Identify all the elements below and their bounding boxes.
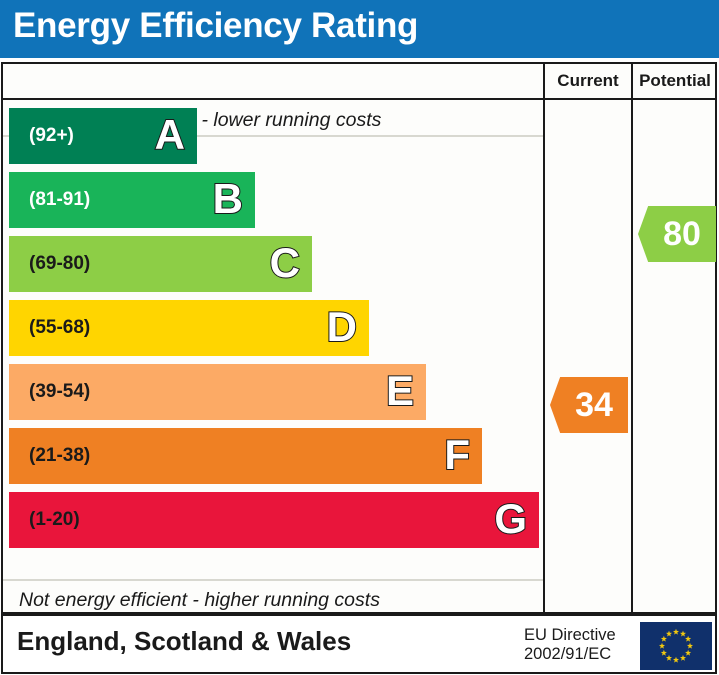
rating-table: Current Potential Very energy efficient …: [1, 62, 717, 614]
band-range-label: (39-54): [29, 364, 90, 420]
column-header-potential: Potential: [633, 64, 717, 98]
footer-directive-label: EU Directive 2002/91/EC: [524, 626, 616, 664]
column-separator-right: [631, 64, 633, 612]
band-range-label: (1-20): [29, 492, 80, 548]
band-letter-label: D: [327, 300, 357, 356]
band-range-label: (81-91): [29, 172, 90, 228]
band-letter-label: C: [270, 236, 300, 292]
table-header-row: Current Potential: [3, 64, 715, 100]
eu-flag-icon: [640, 622, 712, 670]
footer-region-label: England, Scotland & Wales: [17, 626, 351, 657]
band-letter-label: E: [386, 364, 414, 420]
energy-efficiency-rating-chart: Energy Efficiency Rating Current Potenti…: [0, 0, 719, 675]
band-letter-label: G: [494, 492, 527, 548]
band-bar: (81-91)B: [9, 172, 255, 228]
directive-line-1: EU Directive: [524, 626, 616, 645]
page-title: Energy Efficiency Rating: [13, 6, 418, 46]
band-bar: (55-68)D: [9, 300, 369, 356]
band-range-label: (21-38): [29, 428, 90, 484]
current-rating-arrow: 34: [550, 377, 628, 433]
band-range-label: (92+): [29, 108, 74, 164]
band-bar: (39-54)E: [9, 364, 426, 420]
band-bar-list: (92+)A(81-91)B(69-80)C(55-68)D(39-54)E(2…: [3, 100, 543, 612]
potential-rating-arrow: 80: [638, 206, 716, 262]
directive-line-2: 2002/91/EC: [524, 645, 616, 664]
caption-not-efficient: Not energy efficient - higher running co…: [19, 589, 380, 612]
band-bar: (92+)A: [9, 108, 197, 164]
eu-flag-stars-icon: [640, 622, 712, 670]
footer-bar: England, Scotland & Wales EU Directive 2…: [1, 614, 717, 674]
title-bar: Energy Efficiency Rating: [0, 0, 719, 58]
band-letter-label: F: [444, 428, 470, 484]
band-bar: (69-80)C: [9, 236, 312, 292]
column-separator-left: [543, 64, 545, 612]
band-range-label: (55-68): [29, 300, 90, 356]
column-header-current: Current: [545, 64, 631, 98]
band-bar: (21-38)F: [9, 428, 482, 484]
band-range-label: (69-80): [29, 236, 90, 292]
caption-divider-bottom: [3, 579, 543, 581]
band-letter-label: A: [155, 108, 185, 164]
band-bar: (1-20)G: [9, 492, 539, 548]
band-letter-label: B: [213, 172, 243, 228]
